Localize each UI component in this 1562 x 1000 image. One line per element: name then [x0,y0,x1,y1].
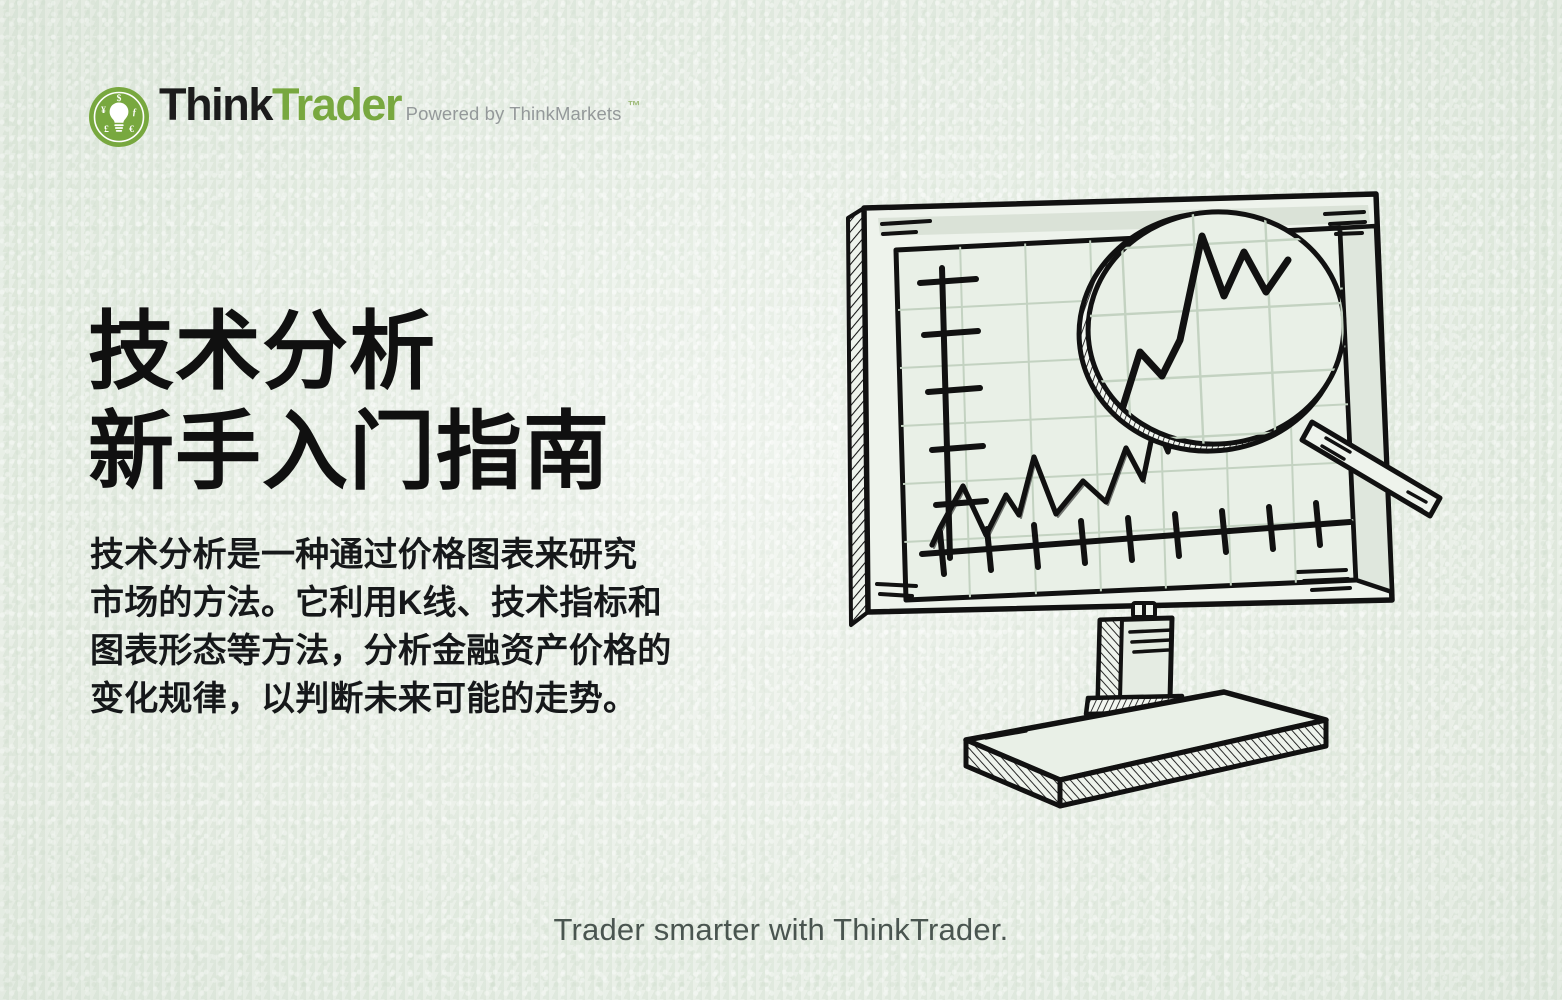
page-title: 技术分析 新手入门指南 [88,302,728,502]
body-line-4: 变化规律，以判断未来可能的走势。 [90,675,715,723]
body-line-2: 市场的方法。它利用K线、技术指标和 [90,579,715,627]
logo-word-think: Think [159,79,272,130]
headline-line-2: 新手入门指南 [88,402,728,502]
headline-line-1: 技术分析 [88,302,728,402]
power-indicator-icon [1133,603,1155,617]
trademark-symbol: ™ [627,81,640,131]
svg-text:ƒ: ƒ [132,108,137,118]
lightbulb-in-circle-icon: $ ¥ ƒ £ € [88,86,150,148]
svg-text:$: $ [117,93,122,104]
body-line-1: 技术分析是一种通过价格图表来研究 [90,531,715,579]
logo-text-block: ThinkTrader™ Powered by ThinkMarkets [159,80,621,130]
svg-text:£: £ [104,125,109,135]
body-paragraph: 技术分析是一种通过价格图表来研究 市场的方法。它利用K线、技术指标和 图表形态等… [90,531,715,723]
logo-word-trader: Trader [272,79,401,130]
monitor-illustration [820,180,1520,820]
svg-text:€: € [129,125,134,135]
monitor-base [966,692,1326,806]
thinktrader-logo[interactable]: $ ¥ ƒ £ € ThinkTrader™ Powered by ThinkM… [88,80,621,148]
logo-tagline: Powered by ThinkMarkets [406,103,622,124]
logo-wordmark: ThinkTrader™ [159,79,401,130]
monitor-icon [848,188,1440,806]
body-line-3: 图表形态等方法，分析金融资产价格的 [90,627,715,675]
footer-tagline: Trader smarter with ThinkTrader. [0,912,1562,948]
svg-text:¥: ¥ [101,106,106,116]
monitor-stand-neck-shading [1098,619,1122,699]
